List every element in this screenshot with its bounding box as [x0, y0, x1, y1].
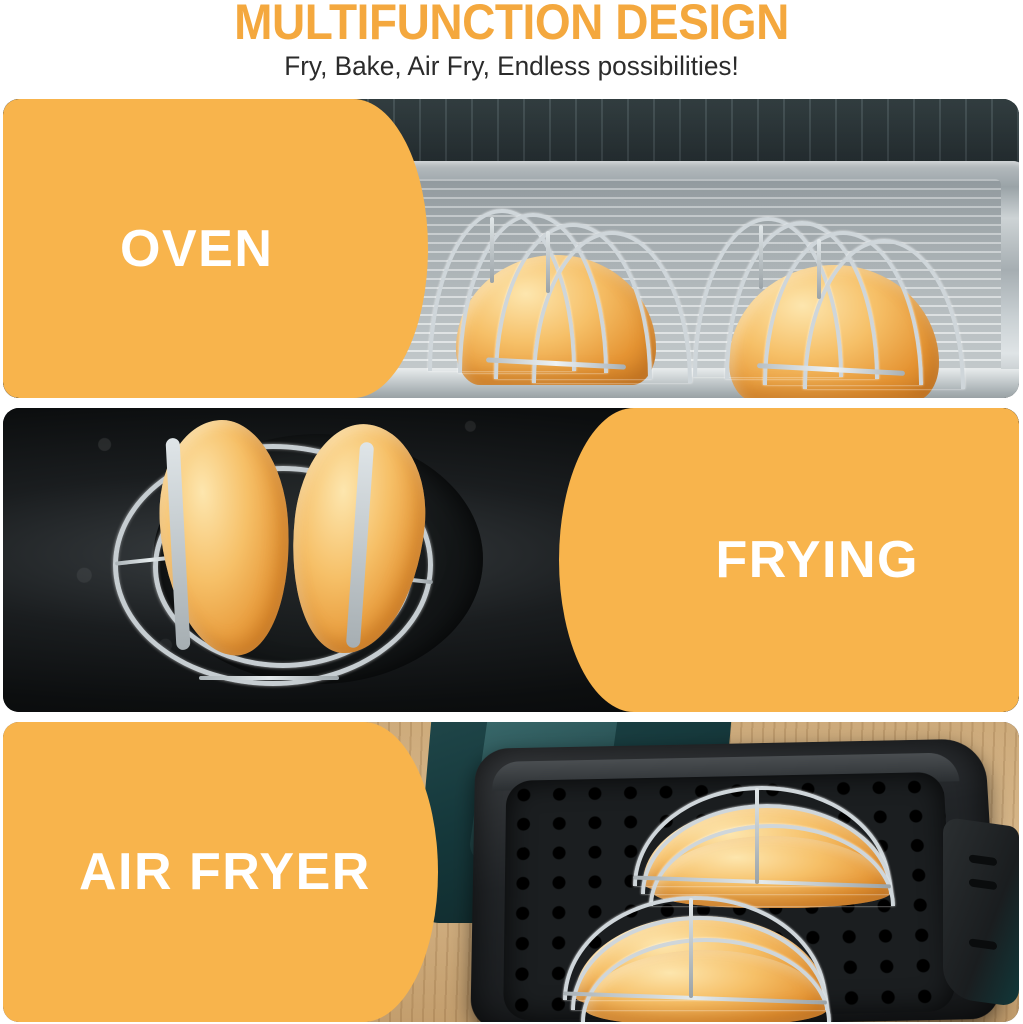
rack-post — [759, 225, 763, 289]
airfryer-label: AIR FRYER — [79, 845, 371, 899]
page-subtitle: Fry, Bake, Air Fry, Endless possibilitie… — [15, 50, 1007, 82]
feature-row-oven: OVEN — [3, 99, 1019, 398]
rack-post — [490, 217, 494, 283]
taco-rack-lower — [563, 892, 863, 1022]
feature-row-airfryer: AIR FRYER — [3, 722, 1019, 1022]
handle-vent — [969, 938, 997, 950]
page-title: MULTIFUNCTION DESIGN — [41, 0, 982, 48]
handle-vent — [969, 878, 997, 890]
taco-rack-left — [428, 209, 728, 398]
feature-row-frying: FRYING — [3, 408, 1019, 712]
handle-vent — [969, 854, 997, 866]
rack-post — [755, 788, 759, 884]
airfryer-handle — [943, 817, 1019, 1008]
oven-label: OVEN — [120, 222, 273, 276]
rack-spoke — [199, 676, 339, 680]
rack-post — [546, 231, 550, 293]
panel-curve — [559, 408, 709, 712]
frying-label: FRYING — [715, 533, 919, 587]
panel-curve — [278, 99, 428, 398]
rack-post — [817, 239, 821, 299]
header: MULTIFUNCTION DESIGN Fry, Bake, Air Fry,… — [0, 0, 1023, 92]
rack-post — [689, 898, 693, 998]
taco-rack-right — [693, 217, 993, 398]
